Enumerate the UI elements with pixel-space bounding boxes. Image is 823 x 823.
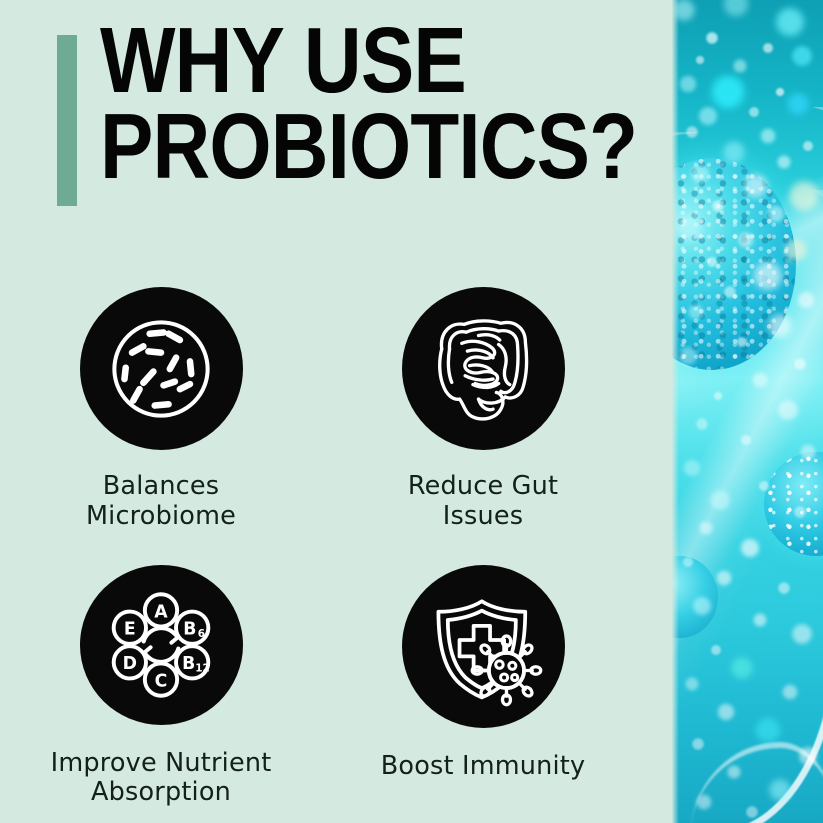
page-title: WHY USE PROBIOTICS?: [100, 17, 582, 190]
benefit-label: Balances Microbiome: [86, 472, 236, 531]
petri-dish-bacteria-icon: [80, 287, 243, 450]
benefit-item-boost-immunity: Boost Immunity: [322, 540, 644, 808]
probiotics-infographic: WHY USE PROBIOTICS?: [0, 0, 823, 823]
vitamin-cycle-icon: A B 6 B 12 C D E: [80, 565, 243, 725]
microbiology-photo-panel: [672, 0, 823, 823]
svg-text:A: A: [154, 602, 168, 622]
photo-left-edge-fade: [672, 0, 679, 823]
benefit-item-balances-microbiome: Balances Microbiome: [0, 262, 322, 540]
svg-text:D: D: [123, 654, 137, 674]
svg-text:B: B: [182, 654, 195, 674]
benefit-item-reduce-gut-issues: Reduce Gut Issues: [322, 262, 644, 540]
svg-text:6: 6: [198, 628, 205, 640]
benefit-label: Boost Immunity: [381, 752, 586, 782]
svg-text:C: C: [155, 671, 168, 691]
benefit-label: Reduce Gut Issues: [408, 472, 558, 531]
svg-text:E: E: [124, 620, 136, 640]
intestines-icon: [402, 287, 565, 450]
svg-text:12: 12: [195, 662, 209, 674]
benefit-label: Improve Nutrient Absorption: [51, 749, 272, 808]
shield-virus-icon: [402, 565, 565, 728]
content-panel: WHY USE PROBIOTICS?: [0, 0, 676, 823]
benefits-grid: Balances Microbiome: [0, 262, 676, 808]
benefit-item-improve-nutrient-absorption: A B 6 B 12 C D E Improve Nutrient Absorp…: [0, 540, 322, 808]
headline-block: WHY USE PROBIOTICS?: [57, 33, 657, 213]
accent-bar: [57, 35, 77, 206]
svg-text:B: B: [183, 620, 196, 640]
